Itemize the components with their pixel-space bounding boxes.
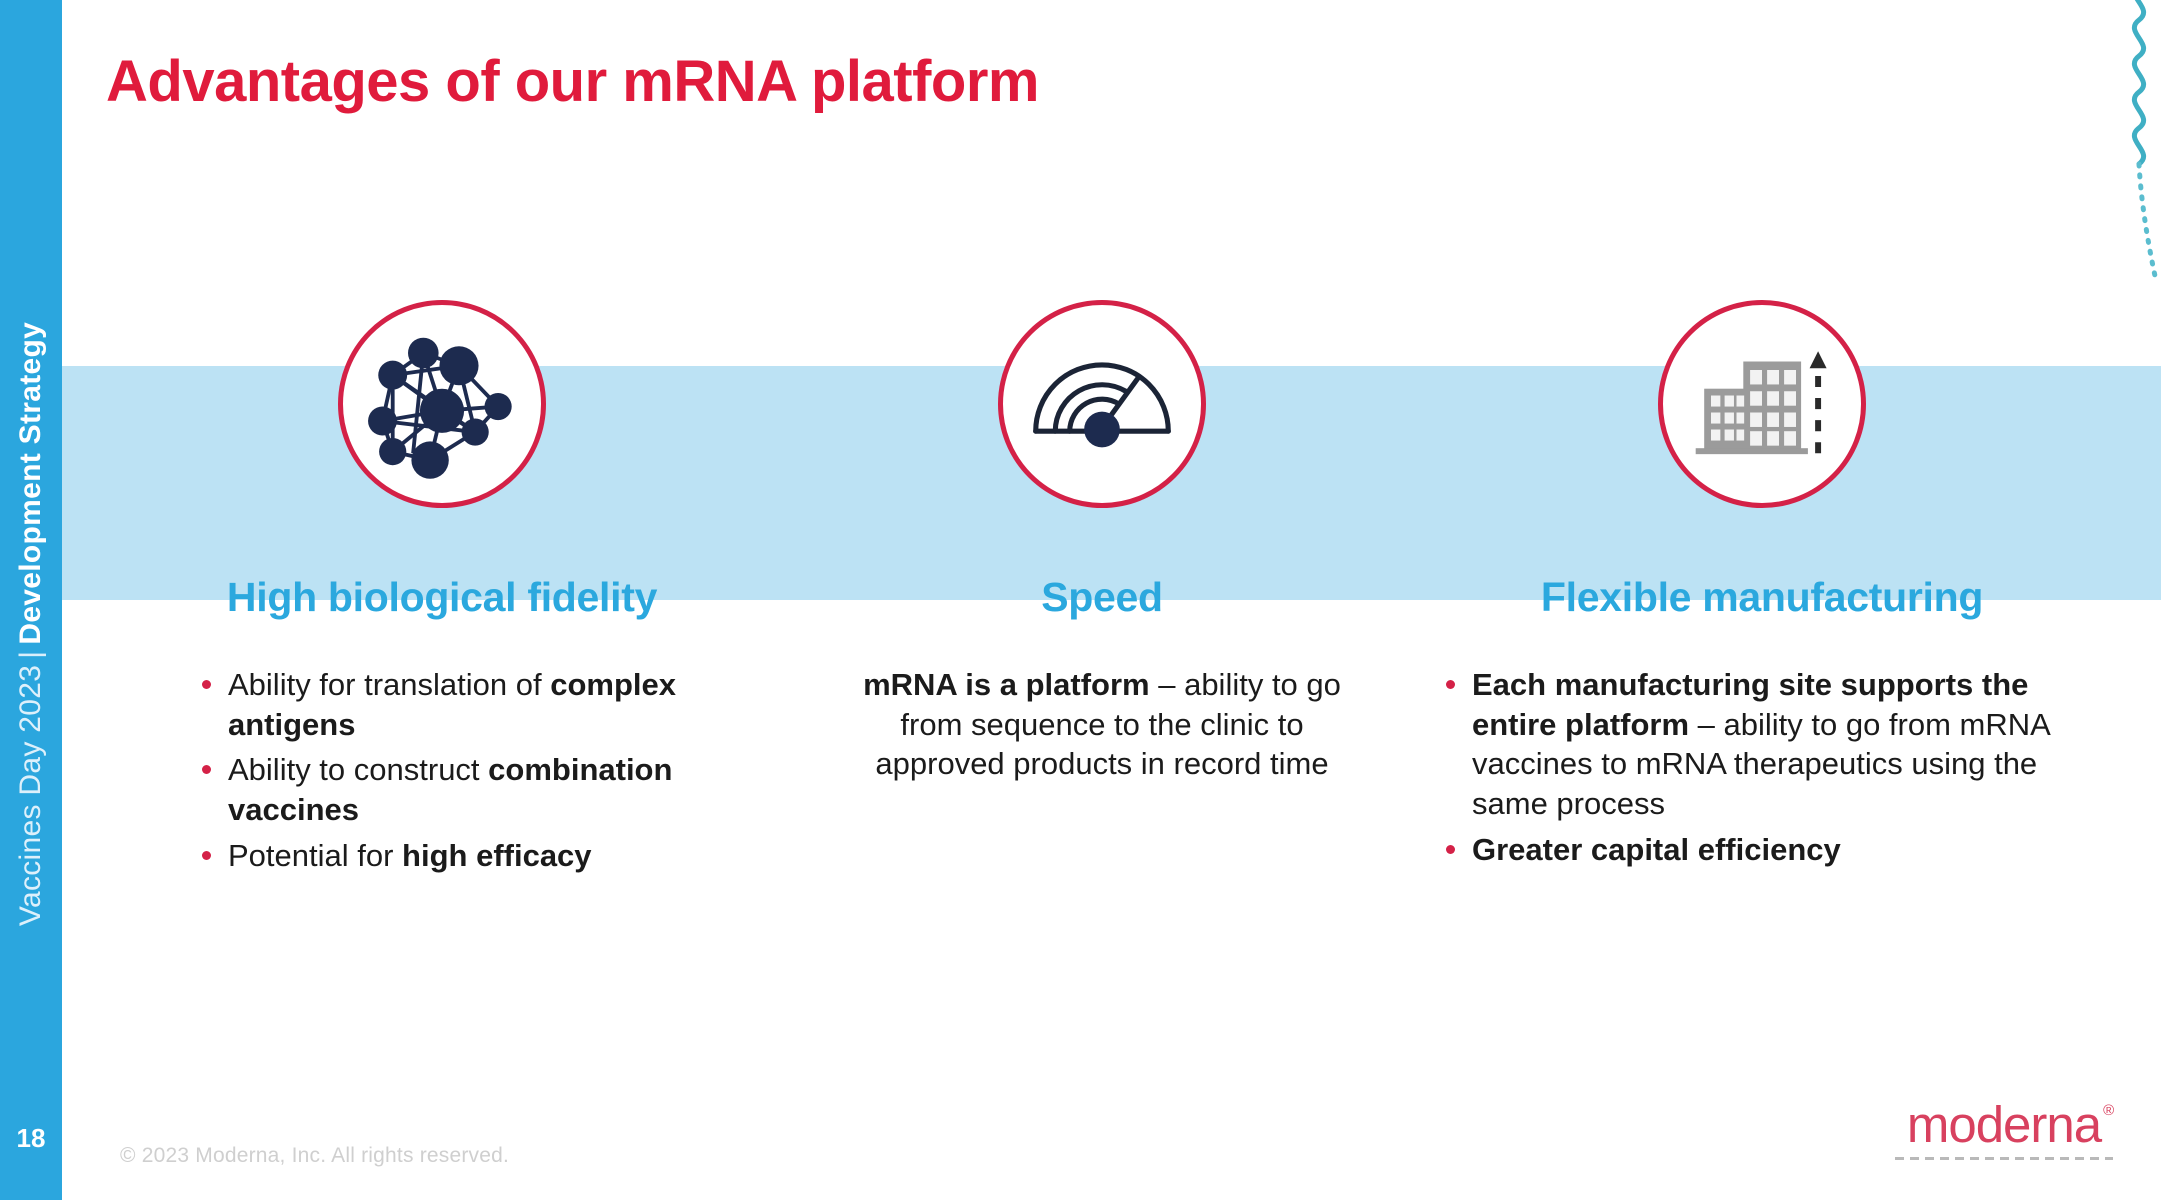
column-heading-2: Speed: [822, 574, 1382, 621]
list-item: Ability to construct combination vaccine…: [192, 750, 786, 829]
speedometer-icon: [1017, 319, 1187, 489]
list-item: Ability for translation of complex antig…: [192, 665, 786, 744]
network-nodes-icon: [357, 319, 527, 489]
logo-registered-mark: ®: [2103, 1103, 2113, 1118]
list-item: Potential for high efficacy: [192, 836, 786, 876]
page-title: Advantages of our mRNA platform: [106, 48, 1039, 115]
column-heading-1: High biological fidelity: [62, 574, 822, 621]
sidebar: Vaccines Day 2023|Development Strategy 1…: [0, 0, 62, 1200]
moderna-logo: moderna®: [1895, 1099, 2113, 1160]
bullet-list-1: Ability for translation of complex antig…: [192, 665, 786, 875]
icon-circle-1: [338, 300, 546, 508]
logo-underline: [1895, 1157, 2113, 1160]
bullet-text-plain-before: Ability for translation of: [228, 667, 550, 702]
column-flexible-manufacturing: Flexible manufacturing Each manufacturin…: [1382, 300, 2142, 1060]
bullet-list-3: Each manufacturing site supports the ent…: [1436, 665, 2102, 869]
logo-wordmark: moderna®: [1907, 1099, 2101, 1150]
column-heading-3: Flexible manufacturing: [1382, 574, 2142, 621]
columns-container: High biological fidelity Ability for tra…: [62, 300, 2161, 1060]
page-number: 18: [0, 1123, 62, 1154]
column-body-3: Each manufacturing site supports the ent…: [1382, 665, 2142, 869]
icon-wrap-3: [1382, 300, 2142, 570]
speed-paragraph-bold: mRNA is a platform: [863, 667, 1150, 702]
list-item: Greater capital efficiency: [1436, 830, 2102, 870]
slide: Vaccines Day 2023|Development Strategy 1…: [0, 0, 2161, 1200]
icon-wrap-2: [822, 300, 1382, 570]
logo-text: moderna: [1907, 1096, 2101, 1153]
sidebar-rotated-label: Vaccines Day 2023|Development Strategy: [14, 322, 48, 926]
copyright-text: © 2023 Moderna, Inc. All rights reserved…: [120, 1144, 509, 1168]
column-body-1: Ability for translation of complex antig…: [62, 665, 822, 875]
factory-buildings-icon: [1677, 319, 1847, 489]
sidebar-event-label: Vaccines Day 2023: [14, 665, 47, 926]
column-body-2: mRNA is a platform – ability to go from …: [822, 665, 1382, 784]
icon-circle-2: [998, 300, 1206, 508]
bullet-text-plain-before: Potential for: [228, 838, 402, 873]
sidebar-section-label: Development Strategy: [14, 322, 47, 645]
squiggle-decoration-icon: [2011, 0, 2161, 290]
list-item: Each manufacturing site supports the ent…: [1436, 665, 2102, 824]
icon-circle-3: [1658, 300, 1866, 508]
bullet-text-bold: Greater capital efficiency: [1472, 832, 1841, 867]
column-speed: Speed mRNA is a platform – ability to go…: [822, 300, 1382, 1060]
bullet-text-bold: high efficacy: [402, 838, 592, 873]
icon-wrap-1: [62, 300, 822, 570]
bullet-text-plain-before: Ability to construct: [228, 752, 488, 787]
column-high-biological-fidelity: High biological fidelity Ability for tra…: [62, 300, 822, 1060]
sidebar-separator: |: [14, 645, 47, 665]
